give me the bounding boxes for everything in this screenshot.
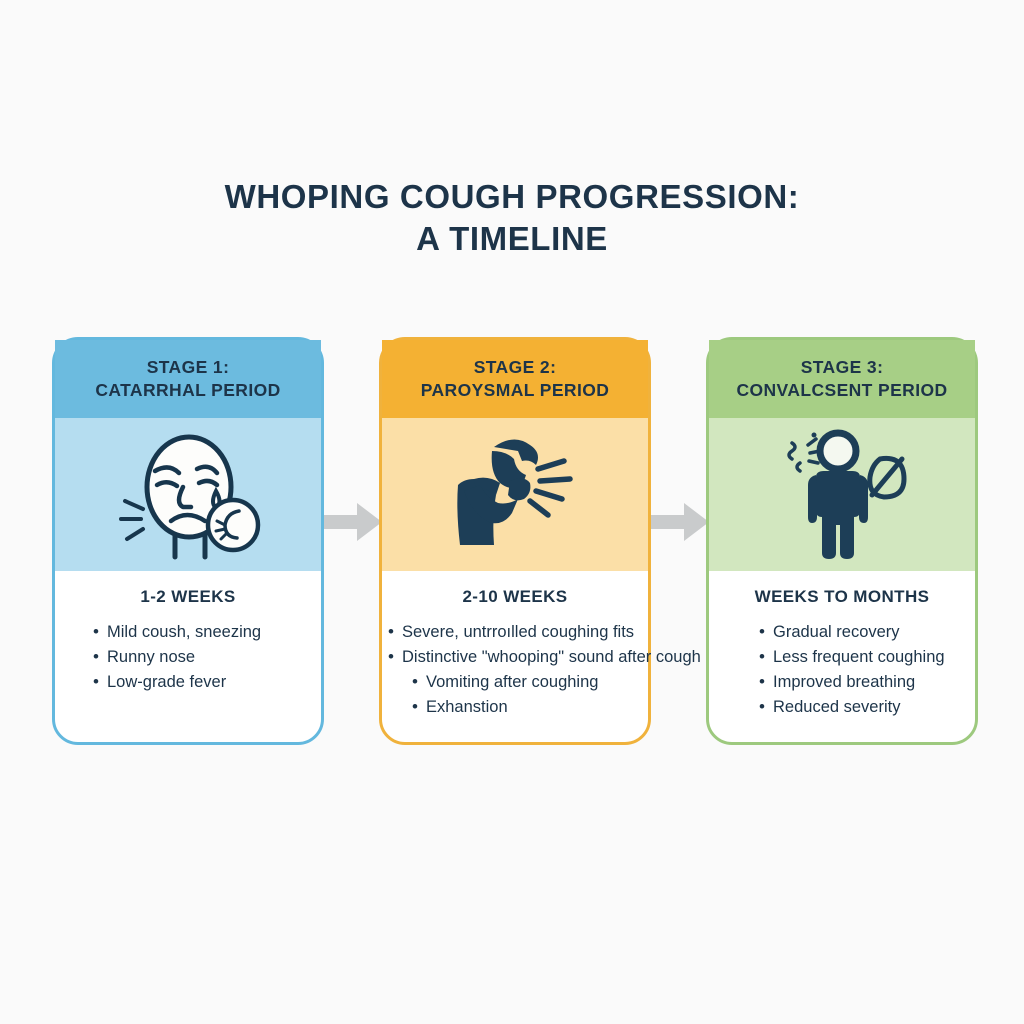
- stage-3-header: STAGE 3: CONVALCSENT PERIOD: [709, 340, 975, 418]
- page-title-line-1: WHOPING COUGH PROGRESSION:: [0, 176, 1024, 218]
- page-title-line-2: A TIMELINE: [0, 218, 1024, 260]
- stage-2-label: STAGE 2:: [474, 357, 557, 377]
- stage-1-header: STAGE 1: CATARRHAL PERIOD: [55, 340, 321, 418]
- stage-card-1: STAGE 1: CATARRHAL PERIOD: [52, 337, 324, 745]
- list-item: Reduced severity: [757, 695, 975, 720]
- arrow-stage1-to-stage2: [324, 499, 384, 545]
- stage-1-duration: 1-2 WEEKS: [55, 587, 321, 607]
- stage-3-illustration: [709, 418, 975, 571]
- stage-3-period: CONVALCSENT PERIOD: [736, 380, 947, 400]
- stage-card-2: STAGE 2: PAROYSMAL PERIOD: [379, 337, 651, 745]
- recovering-person-icon: [762, 425, 922, 565]
- stage-1-body: 1-2 WEEKS Mild coush, sneezing Runny nos…: [55, 571, 321, 695]
- stage-2-illustration: [382, 418, 648, 571]
- stage-3-label: STAGE 3:: [801, 357, 884, 377]
- list-item: Improved breathing: [757, 670, 975, 695]
- arrow-stage2-to-stage3: [651, 499, 711, 545]
- stage-3-duration: WEEKS TO MONTHS: [709, 587, 975, 607]
- stage-2-body: 2-10 WEEKS Severe, untrroılled coughing …: [382, 571, 648, 720]
- list-item: Runny nose: [91, 645, 321, 670]
- page-title: WHOPING COUGH PROGRESSION: A TIMELINE: [0, 176, 1024, 260]
- stage-1-symptom-list: Mild coush, sneezing Runny nose Low-grad…: [55, 620, 321, 695]
- list-item: Low-grade fever: [91, 670, 321, 695]
- stage-2-header: STAGE 2: PAROYSMAL PERIOD: [382, 340, 648, 418]
- list-item: Gradual recovery: [757, 620, 975, 645]
- list-item: Severe, untrroılled coughing fits: [386, 620, 648, 645]
- list-item: Less frequent coughing: [757, 645, 975, 670]
- list-item: Distinctive "whooping" sound after cough: [386, 645, 648, 670]
- list-item: Vomiting after coughing: [386, 670, 648, 695]
- stage-1-period: CATARRHAL PERIOD: [95, 380, 280, 400]
- stage-1-label: STAGE 1:: [147, 357, 230, 377]
- stage-1-illustration: [55, 418, 321, 571]
- stage-2-duration: 2-10 WEEKS: [382, 587, 648, 607]
- stage-2-symptom-list: Severe, untrroılled coughing fits Distin…: [382, 620, 648, 720]
- stage-card-3: STAGE 3: CONVALCSENT PERIOD: [706, 337, 978, 745]
- sick-face-icon: [113, 425, 263, 565]
- list-item: Mild coush, sneezing: [91, 620, 321, 645]
- list-item: Exhanstion: [386, 695, 648, 720]
- stage-3-body: WEEKS TO MONTHS Gradual recovery Less fr…: [709, 571, 975, 720]
- coughing-person-icon: [430, 425, 600, 565]
- stage-3-symptom-list: Gradual recovery Less frequent coughing …: [709, 620, 975, 720]
- stage-2-period: PAROYSMAL PERIOD: [421, 380, 610, 400]
